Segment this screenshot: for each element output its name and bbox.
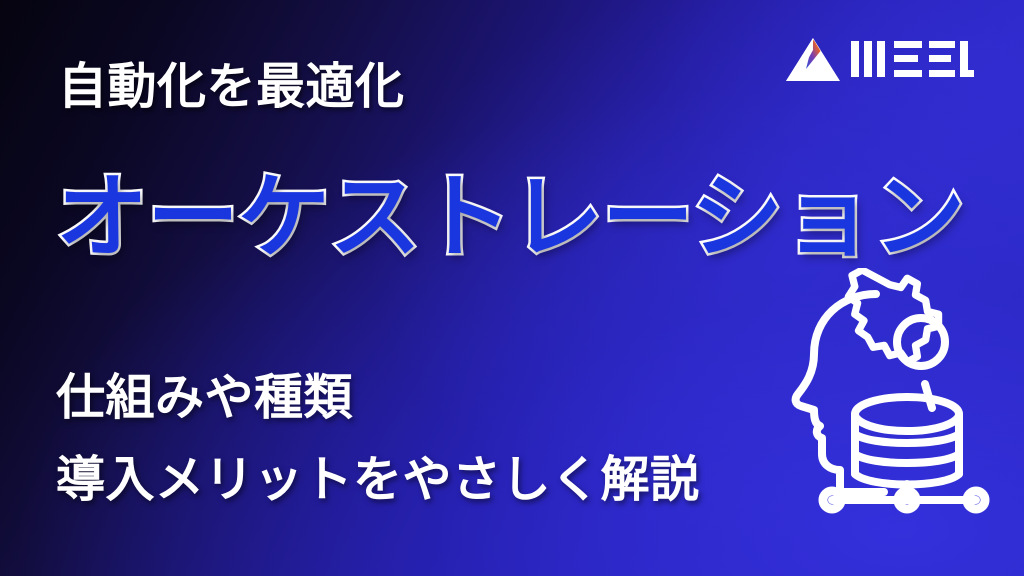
hero-banner: 自動化を最適化 オーケストレーション 仕組みや種類 導入メリットをやさしく解説 — [0, 0, 1024, 576]
mountain-triangle-icon — [784, 36, 842, 82]
subtitle-line-1: 仕組みや種類 — [56, 370, 353, 426]
logo-wordmark — [849, 39, 974, 79]
brand-logo[interactable] — [784, 33, 974, 85]
subtitle-line-2: 導入メリットをやさしく解説 — [56, 452, 700, 508]
page-title: オーケストレーション — [56, 166, 964, 269]
eyebrow-text: 自動化を最適化 — [58, 60, 405, 115]
ai-orchestration-icon — [780, 268, 990, 518]
